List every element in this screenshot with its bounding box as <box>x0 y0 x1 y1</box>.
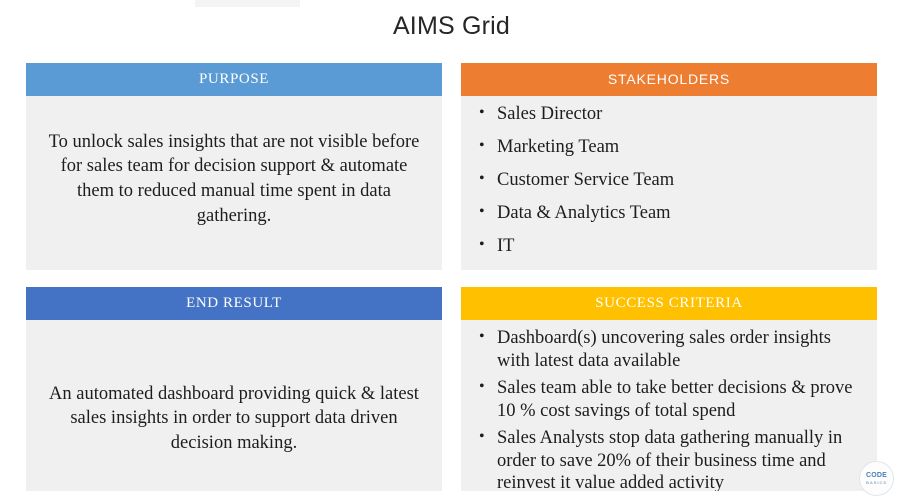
list-item: Sales Analysts stop data gathering manua… <box>475 427 863 491</box>
list-item: Customer Service Team <box>475 169 863 192</box>
list-item: Marketing Team <box>475 136 863 159</box>
list-item: Sales team able to take better decisions… <box>475 377 863 422</box>
panel-stakeholders: STAKEHOLDERS Sales Director Marketing Te… <box>461 63 877 270</box>
page-title: AIMS Grid <box>0 12 903 41</box>
panel-stakeholders-body: Sales Director Marketing Team Customer S… <box>461 96 877 270</box>
list-item: Data & Analytics Team <box>475 202 863 225</box>
success-criteria-list: Dashboard(s) uncovering sales order insi… <box>475 327 863 491</box>
panel-success-criteria-body: Dashboard(s) uncovering sales order insi… <box>461 320 877 491</box>
panel-end-result-body: An automated dashboard providing quick &… <box>26 320 442 491</box>
codebasics-logo: CODE BASICS <box>859 461 894 496</box>
aims-grid: PURPOSE To unlock sales insights that ar… <box>26 63 877 491</box>
panel-success-criteria-header: SUCCESS CRITERIA <box>461 287 877 320</box>
logo-primary-text: CODE <box>866 472 887 480</box>
panel-purpose-text: To unlock sales insights that are not vi… <box>44 130 424 228</box>
panel-end-result: END RESULT An automated dashboard provid… <box>26 287 442 491</box>
panel-purpose-header: PURPOSE <box>26 63 442 96</box>
list-item: IT <box>475 235 863 258</box>
panel-end-result-header: END RESULT <box>26 287 442 320</box>
panel-purpose-body: To unlock sales insights that are not vi… <box>26 96 442 270</box>
panel-stakeholders-header: STAKEHOLDERS <box>461 63 877 96</box>
list-item: Dashboard(s) uncovering sales order insi… <box>475 327 863 372</box>
panel-end-result-text: An automated dashboard providing quick &… <box>44 382 424 456</box>
list-item: Sales Director <box>475 103 863 126</box>
panel-purpose: PURPOSE To unlock sales insights that ar… <box>26 63 442 270</box>
panel-success-criteria: SUCCESS CRITERIA Dashboard(s) uncovering… <box>461 287 877 491</box>
top-edge-artifact <box>195 0 300 7</box>
stakeholders-list: Sales Director Marketing Team Customer S… <box>475 103 863 258</box>
logo-secondary-text: BASICS <box>866 480 887 486</box>
